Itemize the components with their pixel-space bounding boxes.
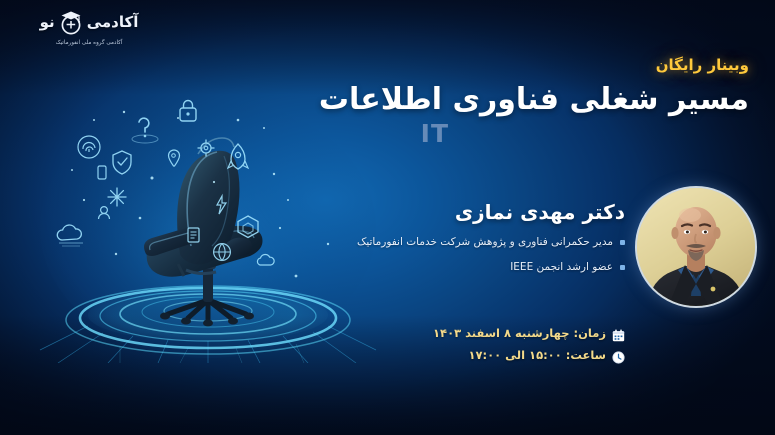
bullet-square-icon: [620, 265, 625, 270]
speaker-name: دکتر مهدی نمازی: [295, 200, 625, 224]
bullet-square-icon: [620, 240, 625, 245]
credential-text: عضو ارشد انجمن IEEE: [510, 260, 613, 276]
schedule-block: زمان: چهارشنبه ۸ اسفند ۱۴۰۳ ساعت: ۱۵:۰۰ …: [295, 326, 625, 370]
schedule-row-time: ساعت: ۱۵:۰۰ الی ۱۷:۰۰: [295, 348, 625, 362]
brand-logo[interactable]: آکادمی نو آکادمی گروه ملی انفورماتیک: [14, 8, 164, 46]
brand-tagline: آکادمی گروه ملی انفورماتیک: [14, 40, 164, 46]
credential-text: مدیر حکمرانی فناوری و پژوهش شرکت خدمات ا…: [357, 235, 613, 251]
title-subtitle-it: IT: [279, 119, 749, 148]
brand-name-left: نو: [40, 15, 55, 30]
logo-row: آکادمی نو: [14, 8, 164, 36]
clock-icon: [612, 349, 625, 362]
schedule-row-date: زمان: چهارشنبه ۸ اسفند ۱۴۰۳: [295, 326, 625, 340]
page-title: مسیر شغلی فناوری اطلاعات: [279, 82, 749, 117]
webinar-poster: آکادمی نو آکادمی گروه ملی انفورماتیک وبی…: [0, 0, 775, 435]
headline-block: وبینار رایگان مسیر شغلی فناوری اطلاعات I…: [279, 58, 749, 148]
schedule-time-text: ساعت: ۱۵:۰۰ الی ۱۷:۰۰: [468, 348, 606, 362]
schedule-date-text: زمان: چهارشنبه ۸ اسفند ۱۴۰۳: [433, 326, 606, 340]
speaker-block: دکتر مهدی نمازی مدیر حکمرانی فناوری و پژ…: [295, 200, 625, 285]
snowflake-icon: [108, 188, 126, 206]
avatar: [635, 186, 757, 308]
speaker-credentials: مدیر حکمرانی فناوری و پژوهش شرکت خدمات ا…: [295, 235, 625, 276]
list-item: عضو ارشد انجمن IEEE: [295, 260, 625, 276]
calendar-icon: [612, 327, 625, 340]
kicker-free-webinar: وبینار رایگان: [279, 58, 749, 73]
brand-name-right: آکادمی: [87, 15, 139, 30]
graduation-cap-icon: [58, 8, 84, 36]
list-item: مدیر حکمرانی فناوری و پژوهش شرکت خدمات ا…: [295, 235, 625, 251]
